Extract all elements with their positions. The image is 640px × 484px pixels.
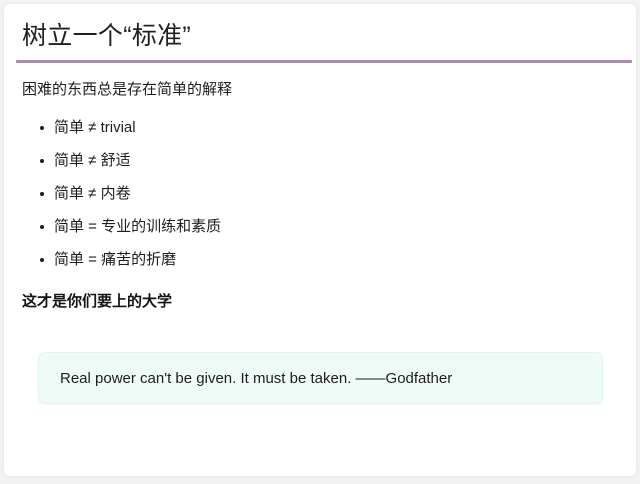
bullet-dot-icon: [40, 225, 44, 229]
list-item: 简单 ≠ 舒适: [22, 144, 221, 177]
page-title: 树立一个“标准”: [22, 20, 191, 52]
quote-callout: Real power can't be given. It must be ta…: [38, 352, 603, 404]
list-item: 简单 ≠ 内卷: [22, 177, 221, 210]
list-item: 简单 ≠ trivial: [22, 111, 221, 144]
lead-paragraph: 困难的东西总是存在简单的解释: [22, 79, 232, 101]
quote-text: Real power can't be given. It must be ta…: [60, 353, 590, 403]
list-item-label: 简单 ≠ 内卷: [54, 185, 131, 202]
bullet-dot-icon: [40, 192, 44, 196]
bullet-dot-icon: [40, 126, 44, 130]
bullet-dot-icon: [40, 159, 44, 163]
slide-card: 树立一个“标准” 困难的东西总是存在简单的解释 简单 ≠ trivial 简单 …: [4, 4, 636, 476]
bullet-dot-icon: [40, 258, 44, 262]
slide-body: 困难的东西总是存在简单的解释 简单 ≠ trivial 简单 ≠ 舒适 简单 ≠…: [4, 63, 636, 476]
list-item: 简单 = 痛苦的折磨: [22, 243, 221, 276]
list-item: 简单 = 专业的训练和素质: [22, 210, 221, 243]
slide-header: 树立一个“标准”: [4, 4, 636, 63]
closing-statement: 这才是你们要上的大学: [22, 291, 172, 313]
list-item-label: 简单 ≠ 舒适: [54, 152, 131, 169]
list-item-label: 简单 ≠ trivial: [54, 119, 136, 136]
list-item-label: 简单 = 痛苦的折磨: [54, 251, 176, 268]
list-item-label: 简单 = 专业的训练和素质: [54, 218, 221, 235]
bullet-list: 简单 ≠ trivial 简单 ≠ 舒适 简单 ≠ 内卷 简单 = 专业的训练和…: [22, 111, 221, 276]
